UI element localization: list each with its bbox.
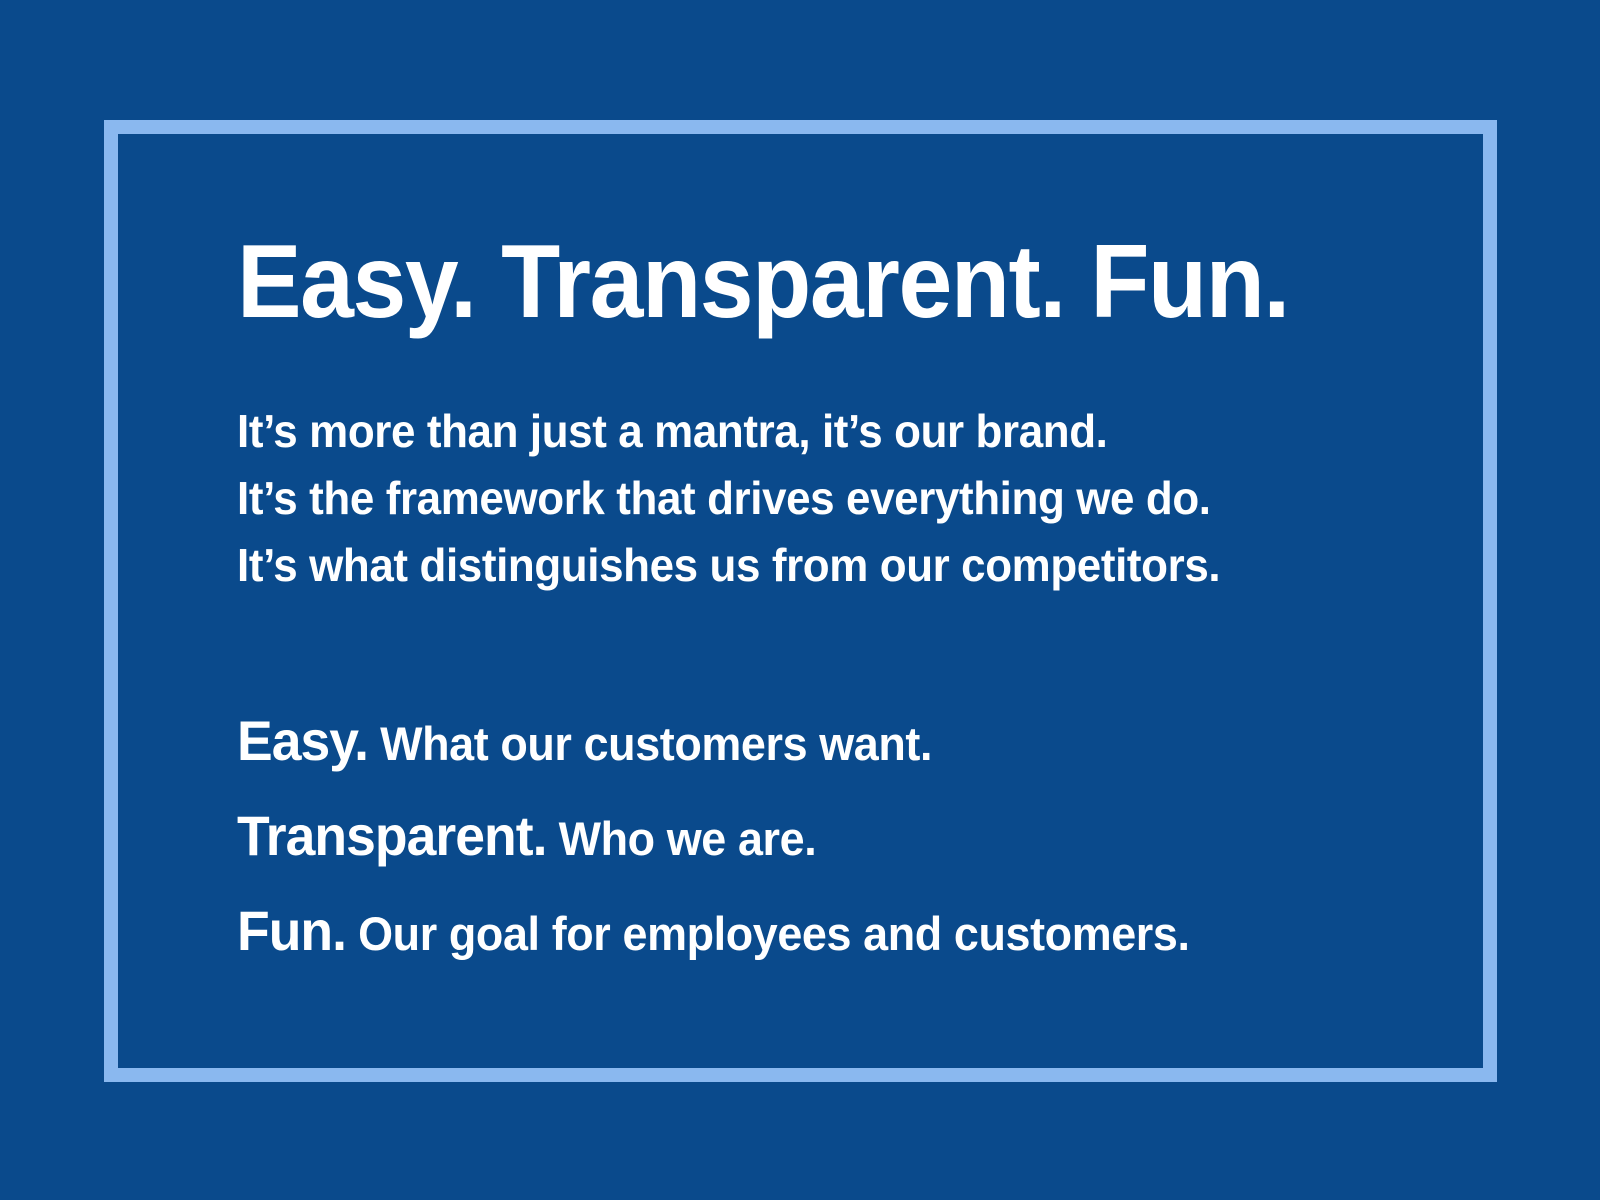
intro-paragraph-line: It’s the framework that drives everythin…	[237, 465, 1364, 532]
slide-content: Easy. Transparent. Fun. It’s more than j…	[237, 228, 1417, 986]
page-title: Easy. Transparent. Fun.	[237, 228, 1334, 336]
intro-paragraph-line: It’s what distinguishes us from our comp…	[237, 532, 1364, 599]
feature-list-item: Easy. What our customers want.	[237, 701, 1364, 796]
feature-list-item: Transparent. Who we are.	[237, 796, 1364, 891]
feature-list-item: Fun. Our goal for employees and customer…	[237, 891, 1364, 986]
feature-list: Easy. What our customers want. Transpare…	[237, 599, 1417, 986]
feature-lead-word: Transparent.	[237, 804, 547, 867]
feature-lead-word: Easy.	[237, 709, 368, 772]
slide-canvas: Easy. Transparent. Fun. It’s more than j…	[0, 0, 1600, 1200]
intro-paragraph-line: It’s more than just a mantra, it’s our b…	[237, 398, 1364, 465]
intro-paragraph: It’s more than just a mantra, it’s our b…	[237, 336, 1417, 599]
feature-description: Our goal for employees and customers.	[346, 907, 1190, 960]
feature-lead-word: Fun.	[237, 899, 346, 962]
feature-description: What our customers want.	[368, 717, 932, 770]
feature-description: Who we are.	[547, 812, 817, 865]
